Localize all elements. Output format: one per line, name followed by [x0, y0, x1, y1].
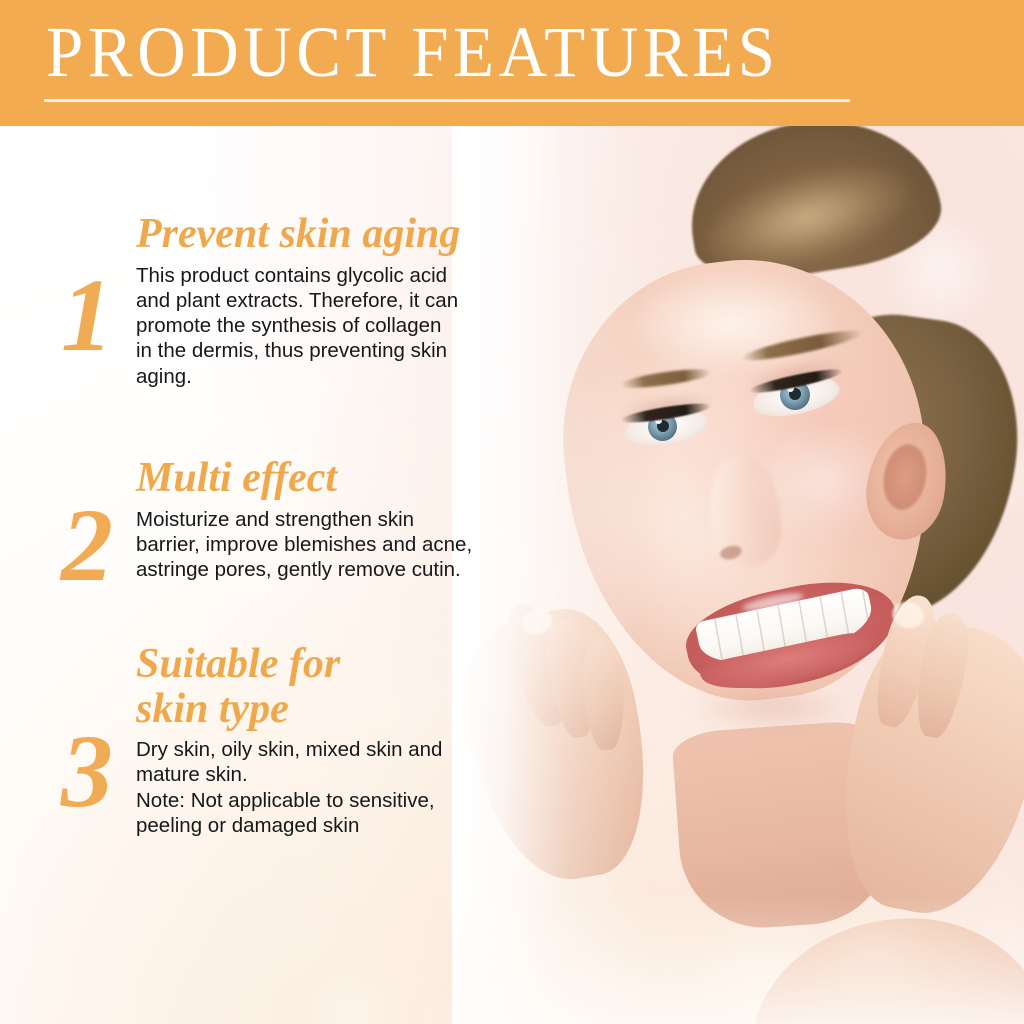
chin-shadow — [698, 688, 848, 734]
feature-body-2: Multi effect Moisturize and strengthen s… — [136, 456, 500, 582]
page-title: PRODUCT FEATURES — [46, 16, 780, 88]
feature-text-3: Dry skin, oily skin, mixed skin and matu… — [136, 737, 500, 838]
product-features-poster: PRODUCT FEATURES 1 Prevent skin aging Th… — [0, 0, 1024, 1024]
feature-body-3: Suitable for skin type Dry skin, oily sk… — [136, 642, 500, 838]
feature-list: 1 Prevent skin aging This product contai… — [0, 126, 500, 1024]
feature-number-2: 2 — [44, 494, 130, 598]
feature-body-1: Prevent skin aging This product contains… — [136, 212, 500, 389]
feature-number-3: 3 — [44, 720, 130, 824]
header-underline — [44, 99, 850, 102]
photo-bottom-fade — [452, 894, 1024, 1024]
feature-title-2: Multi effect — [136, 456, 500, 501]
feature-number-1: 1 — [44, 264, 130, 368]
model-photo — [452, 126, 1024, 1024]
forehead-highlight — [632, 276, 832, 372]
feature-title-1: Prevent skin aging — [136, 212, 500, 257]
feature-title-3: Suitable for skin type — [136, 642, 500, 731]
feature-text-1: This product contains glycolic acid and … — [136, 263, 500, 390]
feature-text-2: Moisturize and strengthen skin barrier, … — [136, 507, 500, 583]
header-banner: PRODUCT FEATURES — [0, 0, 1024, 126]
